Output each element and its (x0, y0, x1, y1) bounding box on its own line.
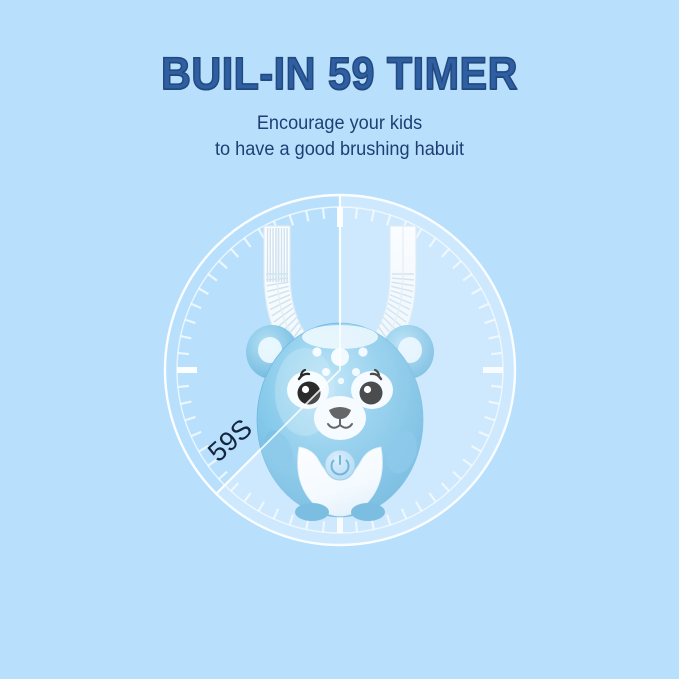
product-marketing-image: BUIL-IN 59 TIMER Encourage your kids to … (0, 0, 679, 679)
product-illustration: 59S (0, 0, 679, 679)
